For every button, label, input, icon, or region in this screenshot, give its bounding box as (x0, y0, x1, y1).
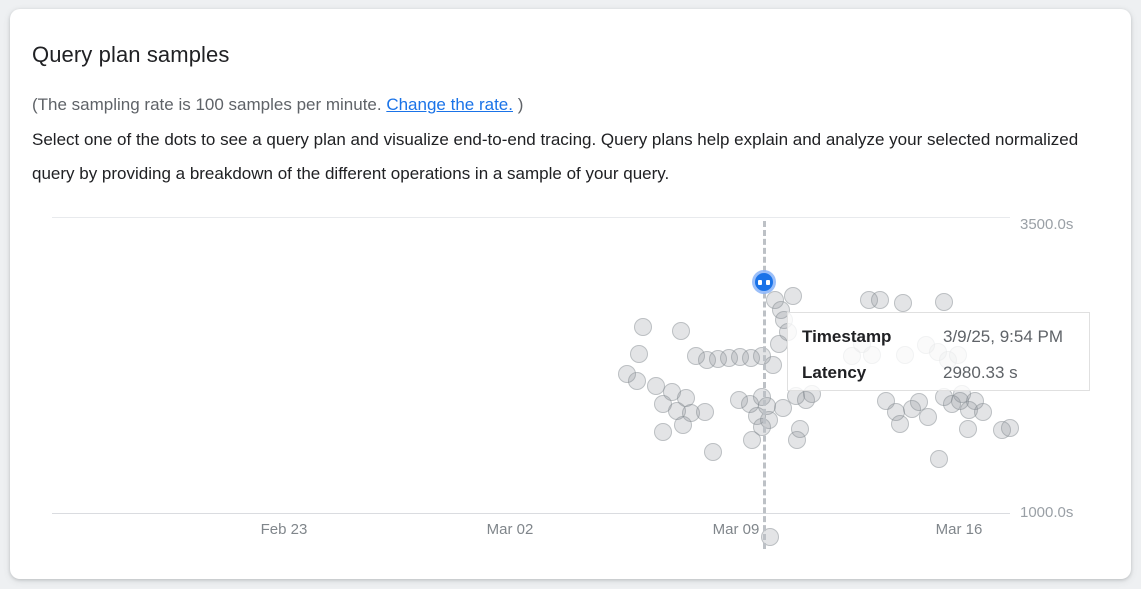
gridline-top (52, 217, 1010, 218)
data-point[interactable] (891, 415, 909, 433)
data-point[interactable] (704, 443, 722, 461)
data-point[interactable] (770, 335, 788, 353)
tooltip-row-latency: Latency 2980.33 s (788, 353, 1089, 392)
data-point[interactable] (628, 372, 646, 390)
x-axis-tick-mar-02: Mar 02 (487, 521, 534, 538)
tooltip-latency-value: 2980.33 s (943, 363, 1018, 383)
scatter-chart[interactable]: 3500.0s 1000.0s Feb 23Mar 02Mar 09Mar 16… (10, 9, 1131, 579)
tooltip-timestamp-label: Timestamp (802, 327, 891, 347)
query-plan-samples-card: Query plan samples (The sampling rate is… (10, 9, 1131, 579)
tooltip-row-timestamp: Timestamp 3/9/25, 9:54 PM (788, 317, 1089, 356)
x-axis-tick-mar-16: Mar 16 (936, 521, 983, 538)
data-point[interactable] (919, 408, 937, 426)
axis-line-bottom (52, 513, 1010, 514)
data-point[interactable] (654, 423, 672, 441)
data-point[interactable] (672, 322, 690, 340)
data-point[interactable] (894, 294, 912, 312)
y-axis-label-max: 3500.0s (1020, 216, 1073, 233)
data-point[interactable] (764, 356, 782, 374)
selected-marker-glyph-icon (755, 273, 773, 291)
y-axis-label-min: 1000.0s (1020, 504, 1073, 521)
data-point[interactable] (935, 293, 953, 311)
data-point[interactable] (788, 431, 806, 449)
data-point[interactable] (959, 420, 977, 438)
data-point[interactable] (930, 450, 948, 468)
data-point[interactable] (634, 318, 652, 336)
tooltip-timestamp-value: 3/9/25, 9:54 PM (943, 327, 1063, 347)
data-point[interactable] (1001, 419, 1019, 437)
selected-sample-marker[interactable] (752, 270, 776, 294)
data-point[interactable] (674, 416, 692, 434)
data-point[interactable] (743, 431, 761, 449)
data-point[interactable] (871, 291, 889, 309)
data-point[interactable] (696, 403, 714, 421)
data-point[interactable] (630, 345, 648, 363)
data-point[interactable] (974, 403, 992, 421)
x-axis-tick-mar-09: Mar 09 (713, 521, 760, 538)
tooltip-latency-label: Latency (802, 363, 866, 383)
sample-tooltip: Timestamp 3/9/25, 9:54 PM Latency 2980.3… (787, 312, 1090, 391)
x-axis-tick-feb-23: Feb 23 (261, 521, 308, 538)
